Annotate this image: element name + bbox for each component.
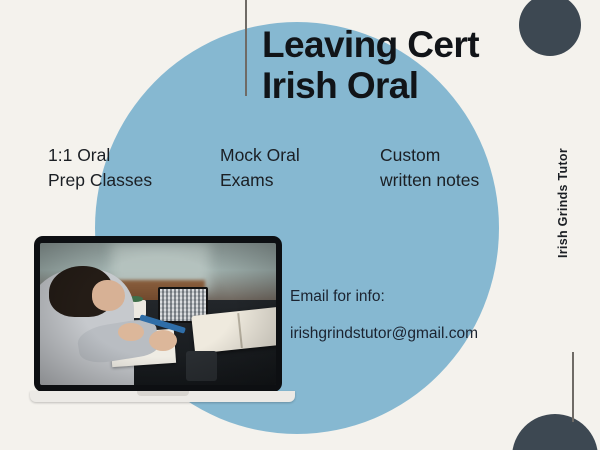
bottom-vertical-divider-line: [572, 352, 574, 422]
feature-item-mock-exams: Mock Oral Exams: [220, 143, 380, 193]
brand-vertical-label: Irish Grinds Tutor: [556, 128, 572, 278]
laptop-lid: [34, 236, 282, 392]
contact-block: Email for info: irishgrindstutor@gmail.c…: [290, 288, 570, 343]
feature-1-line-1: 1:1 Oral: [48, 143, 220, 168]
bottom-right-dot-shape: [512, 414, 598, 450]
feature-list: 1:1 Oral Prep Classes Mock Oral Exams Cu…: [48, 143, 558, 193]
page-title: Leaving Cert Irish Oral: [262, 24, 562, 107]
feature-1-line-2: Prep Classes: [48, 168, 220, 193]
feature-item-oral-prep: 1:1 Oral Prep Classes: [48, 143, 220, 193]
title-line-2: Irish Oral: [262, 65, 562, 106]
title-line-1: Leaving Cert: [262, 24, 562, 65]
feature-2-line-1: Mock Oral: [220, 143, 380, 168]
feature-2-line-2: Exams: [220, 168, 380, 193]
photo-vignette: [40, 243, 276, 385]
laptop-mockup: [30, 236, 295, 416]
feature-item-custom-notes: Custom written notes: [380, 143, 479, 193]
contact-label: Email for info:: [290, 288, 570, 306]
feature-3-line-2: written notes: [380, 168, 479, 193]
laptop-screen-photo: [40, 243, 276, 385]
poster-canvas: Leaving Cert Irish Oral 1:1 Oral Prep Cl…: [0, 0, 600, 450]
top-vertical-divider-line: [245, 0, 247, 96]
feature-3-line-1: Custom: [380, 143, 479, 168]
study-photo-scene: [40, 243, 276, 385]
contact-email-address: irishgrindstutor@gmail.com: [290, 325, 570, 343]
laptop-notch: [137, 391, 189, 396]
